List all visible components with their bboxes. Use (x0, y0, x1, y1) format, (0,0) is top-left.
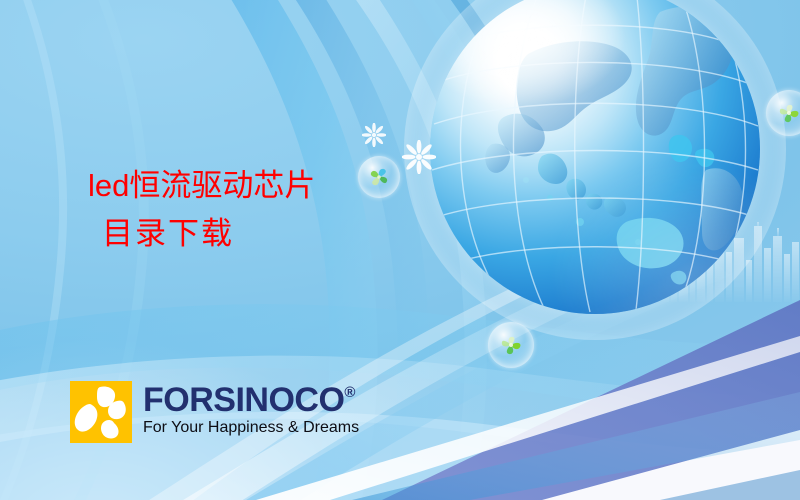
pinwheel-icon (776, 100, 800, 126)
four-petal-pinwheel-icon (70, 381, 132, 443)
soap-bubble-icon (488, 322, 534, 368)
pinwheel-petals (70, 381, 132, 443)
registered-trademark-icon: ® (344, 384, 355, 401)
earth-globe-icon (430, 0, 760, 314)
daisy-starburst-icon (362, 123, 386, 147)
brand-tagline: For Your Happiness & Dreams (143, 419, 359, 437)
brand-name: FORSINOCO (143, 381, 344, 419)
brand-text: FORSINOCO® For Your Happiness & Dreams (143, 381, 359, 437)
daisy-starburst-icon (402, 140, 436, 174)
pinwheel-icon (368, 166, 390, 188)
soap-bubble-icon (358, 156, 400, 198)
pinwheel-icon (498, 332, 524, 358)
headline-line-2: 目录下载 (88, 210, 315, 258)
brand-logo: FORSINOCO® For Your Happiness & Dreams (70, 381, 359, 443)
page-title: led恒流驱动芯片 目录下载 (88, 162, 315, 258)
globe-sphere (430, 0, 760, 314)
brand-wordmark: FORSINOCO® (143, 383, 355, 417)
headline-line-1: led恒流驱动芯片 (88, 168, 315, 203)
banner-image: led恒流驱动芯片 目录下载 (0, 0, 800, 500)
